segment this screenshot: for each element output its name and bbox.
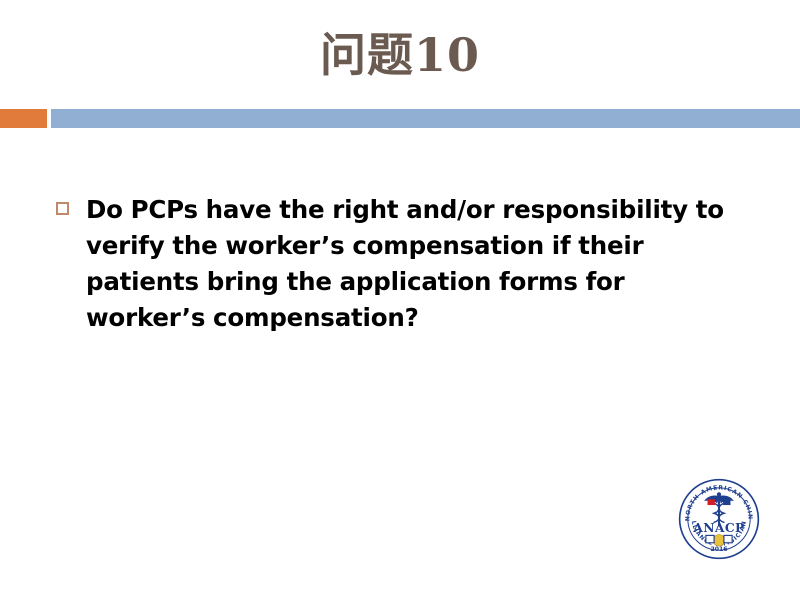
content-body: Do PCPs have the right and/or responsibi… bbox=[56, 192, 756, 336]
title-divider bbox=[0, 109, 800, 128]
list-item: Do PCPs have the right and/or responsibi… bbox=[56, 192, 756, 336]
anacp-logo: OF NORTH AMERICAN CHINESE ALLIANCE PHYSI… bbox=[678, 478, 760, 560]
page-title: 问题10 bbox=[0, 26, 800, 84]
svg-text:2016: 2016 bbox=[710, 546, 727, 553]
square-bullet-icon bbox=[56, 202, 69, 215]
bullet-text: Do PCPs have the right and/or responsibi… bbox=[86, 192, 732, 336]
divider-accent-block bbox=[0, 109, 47, 128]
slide-canvas: 问题10 Do PCPs have the right and/or respo… bbox=[0, 0, 800, 600]
divider-rule-bar bbox=[51, 109, 800, 128]
svg-text:ANACP: ANACP bbox=[692, 520, 744, 535]
